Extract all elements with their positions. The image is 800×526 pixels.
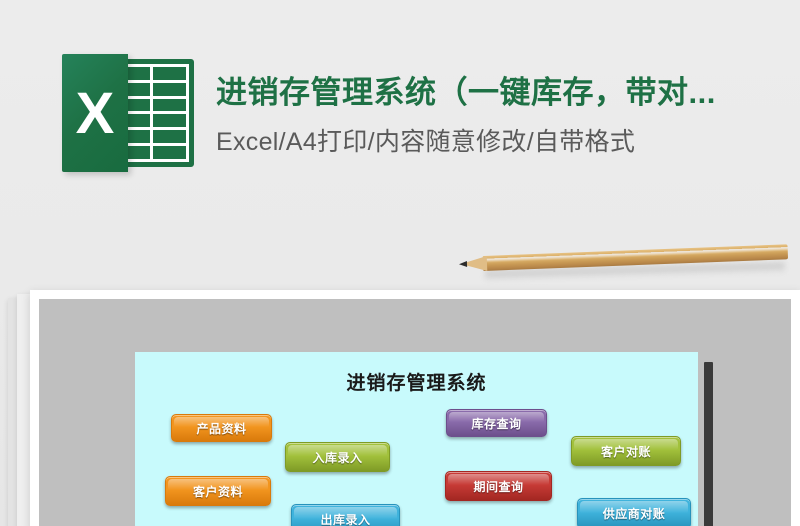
worksheet-button[interactable]: 库存查询 bbox=[446, 409, 547, 437]
worksheet-button[interactable]: 客户资料 bbox=[165, 476, 271, 506]
preview-canvas: 进销存管理系统 产品资料客户资料入库录入出库录入库存查询期间查询客户对账供应商对… bbox=[39, 299, 791, 526]
excel-icon-x-panel: X bbox=[62, 54, 128, 172]
pencil bbox=[455, 251, 800, 285]
worksheet-button[interactable]: 客户对账 bbox=[571, 436, 681, 466]
worksheet-area[interactable]: 进销存管理系统 产品资料客户资料入库录入出库录入库存查询期间查询客户对账供应商对… bbox=[135, 352, 698, 526]
worksheet-button[interactable]: 期间查询 bbox=[445, 471, 552, 501]
worksheet-title: 进销存管理系统 bbox=[135, 368, 698, 395]
page-title: 进销存管理系统（一键库存，带对... bbox=[216, 74, 794, 113]
pencil-lead bbox=[459, 261, 467, 267]
worksheet-button[interactable]: 供应商对账 bbox=[577, 498, 691, 526]
header-banner: X 进销存管理系统（一键库存，带对... Excel/A4打印/内容随意修改/自… bbox=[0, 0, 800, 232]
header-text-block: 进销存管理系统（一键库存，带对... Excel/A4打印/内容随意修改/自带格… bbox=[216, 74, 800, 158]
worksheet-button[interactable]: 出库录入 bbox=[291, 504, 400, 526]
worksheet-button[interactable]: 入库录入 bbox=[285, 442, 390, 472]
page-root: X 进销存管理系统（一键库存，带对... Excel/A4打印/内容随意修改/自… bbox=[0, 0, 800, 526]
excel-icon-letter: X bbox=[62, 54, 128, 172]
document-preview[interactable]: 进销存管理系统 产品资料客户资料入库录入出库录入库存查询期间查询客户对账供应商对… bbox=[8, 290, 800, 526]
page-subtitle: Excel/A4打印/内容随意修改/自带格式 bbox=[216, 127, 794, 158]
excel-file-icon: X bbox=[62, 54, 194, 172]
worksheet-button[interactable]: 产品资料 bbox=[171, 414, 272, 442]
preview-sheet[interactable]: 进销存管理系统 产品资料客户资料入库录入出库录入库存查询期间查询客户对账供应商对… bbox=[30, 290, 800, 526]
worksheet-scrollbar[interactable] bbox=[704, 362, 713, 526]
